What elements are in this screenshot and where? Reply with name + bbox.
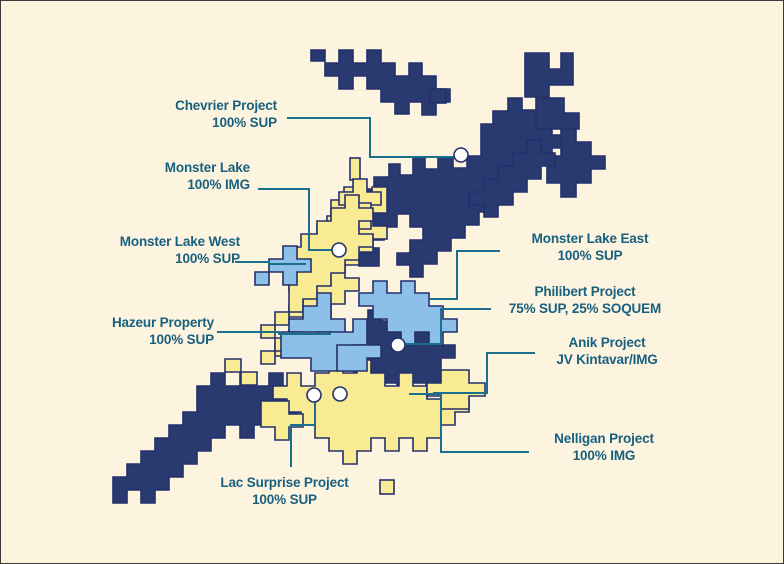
leader-line-chevrier <box>287 118 456 157</box>
marker-chevrier[interactable] <box>454 148 468 162</box>
label-anik-name: Anik Project <box>541 334 673 351</box>
label-monster-lake-name: Monster Lake <box>19 159 250 176</box>
label-chevrier-ownership: 100% SUP <box>19 114 277 131</box>
label-hazeur-name: Hazeur Property <box>19 314 214 331</box>
label-monster-lake-east-name: Monster Lake East <box>505 230 675 247</box>
label-monster-lake-west-name: Monster Lake West <box>19 233 240 250</box>
label-monster-lake-east[interactable]: Monster Lake East 100% SUP <box>505 230 675 264</box>
label-monster-lake-west-ownership: 100% SUP <box>19 250 240 267</box>
label-anik-ownership: JV Kintavar/IMG <box>541 351 673 368</box>
label-hazeur-property[interactable]: Hazeur Property 100% SUP <box>19 314 214 348</box>
label-lac-surprise-name: Lac Surprise Project <box>213 474 356 491</box>
label-philibert-project[interactable]: Philibert Project 75% SUP, 25% SOQUEM <box>495 283 675 317</box>
property-location-map: Chevrier Project 100% SUP Monster Lake 1… <box>0 0 784 564</box>
marker-monster-lake[interactable] <box>332 243 346 257</box>
label-nelligan-project[interactable]: Nelligan Project 100% IMG <box>534 430 674 464</box>
lac-surprise-yellow-top-block[interactable] <box>225 359 257 385</box>
nelligan-yellow-islet[interactable] <box>380 480 394 494</box>
marker-anik[interactable] <box>391 338 405 352</box>
chevrier-navy-arm-west[interactable] <box>311 50 450 115</box>
label-nelligan-name: Nelligan Project <box>534 430 674 447</box>
label-chevrier-project[interactable]: Chevrier Project 100% SUP <box>19 97 277 131</box>
label-monster-lake[interactable]: Monster Lake 100% IMG <box>19 159 250 193</box>
label-monster-lake-east-ownership: 100% SUP <box>505 247 675 264</box>
label-philibert-ownership: 75% SUP, 25% SOQUEM <box>495 300 675 317</box>
label-philibert-name: Philibert Project <box>495 283 675 300</box>
label-anik-project[interactable]: Anik Project JV Kintavar/IMG <box>541 334 673 368</box>
chevrier-navy-islet-c[interactable] <box>536 98 579 129</box>
label-hazeur-ownership: 100% SUP <box>19 331 214 348</box>
chevrier-navy-islet-a[interactable] <box>430 89 446 103</box>
marker-lac-surprise[interactable] <box>307 388 321 402</box>
label-lac-surprise-ownership: 100% SUP <box>213 491 356 508</box>
leader-line-monster-lake-east <box>429 251 500 299</box>
monster-lake-yellow-stem[interactable] <box>350 158 360 180</box>
label-chevrier-name: Chevrier Project <box>19 97 277 114</box>
marker-nelligan[interactable] <box>333 387 347 401</box>
label-nelligan-ownership: 100% IMG <box>534 447 674 464</box>
label-lac-surprise-project[interactable]: Lac Surprise Project 100% SUP <box>213 474 356 508</box>
chevrier-navy-islet-b[interactable] <box>525 53 573 97</box>
label-monster-lake-ownership: 100% IMG <box>19 176 250 193</box>
label-monster-lake-west[interactable]: Monster Lake West 100% SUP <box>19 233 240 267</box>
